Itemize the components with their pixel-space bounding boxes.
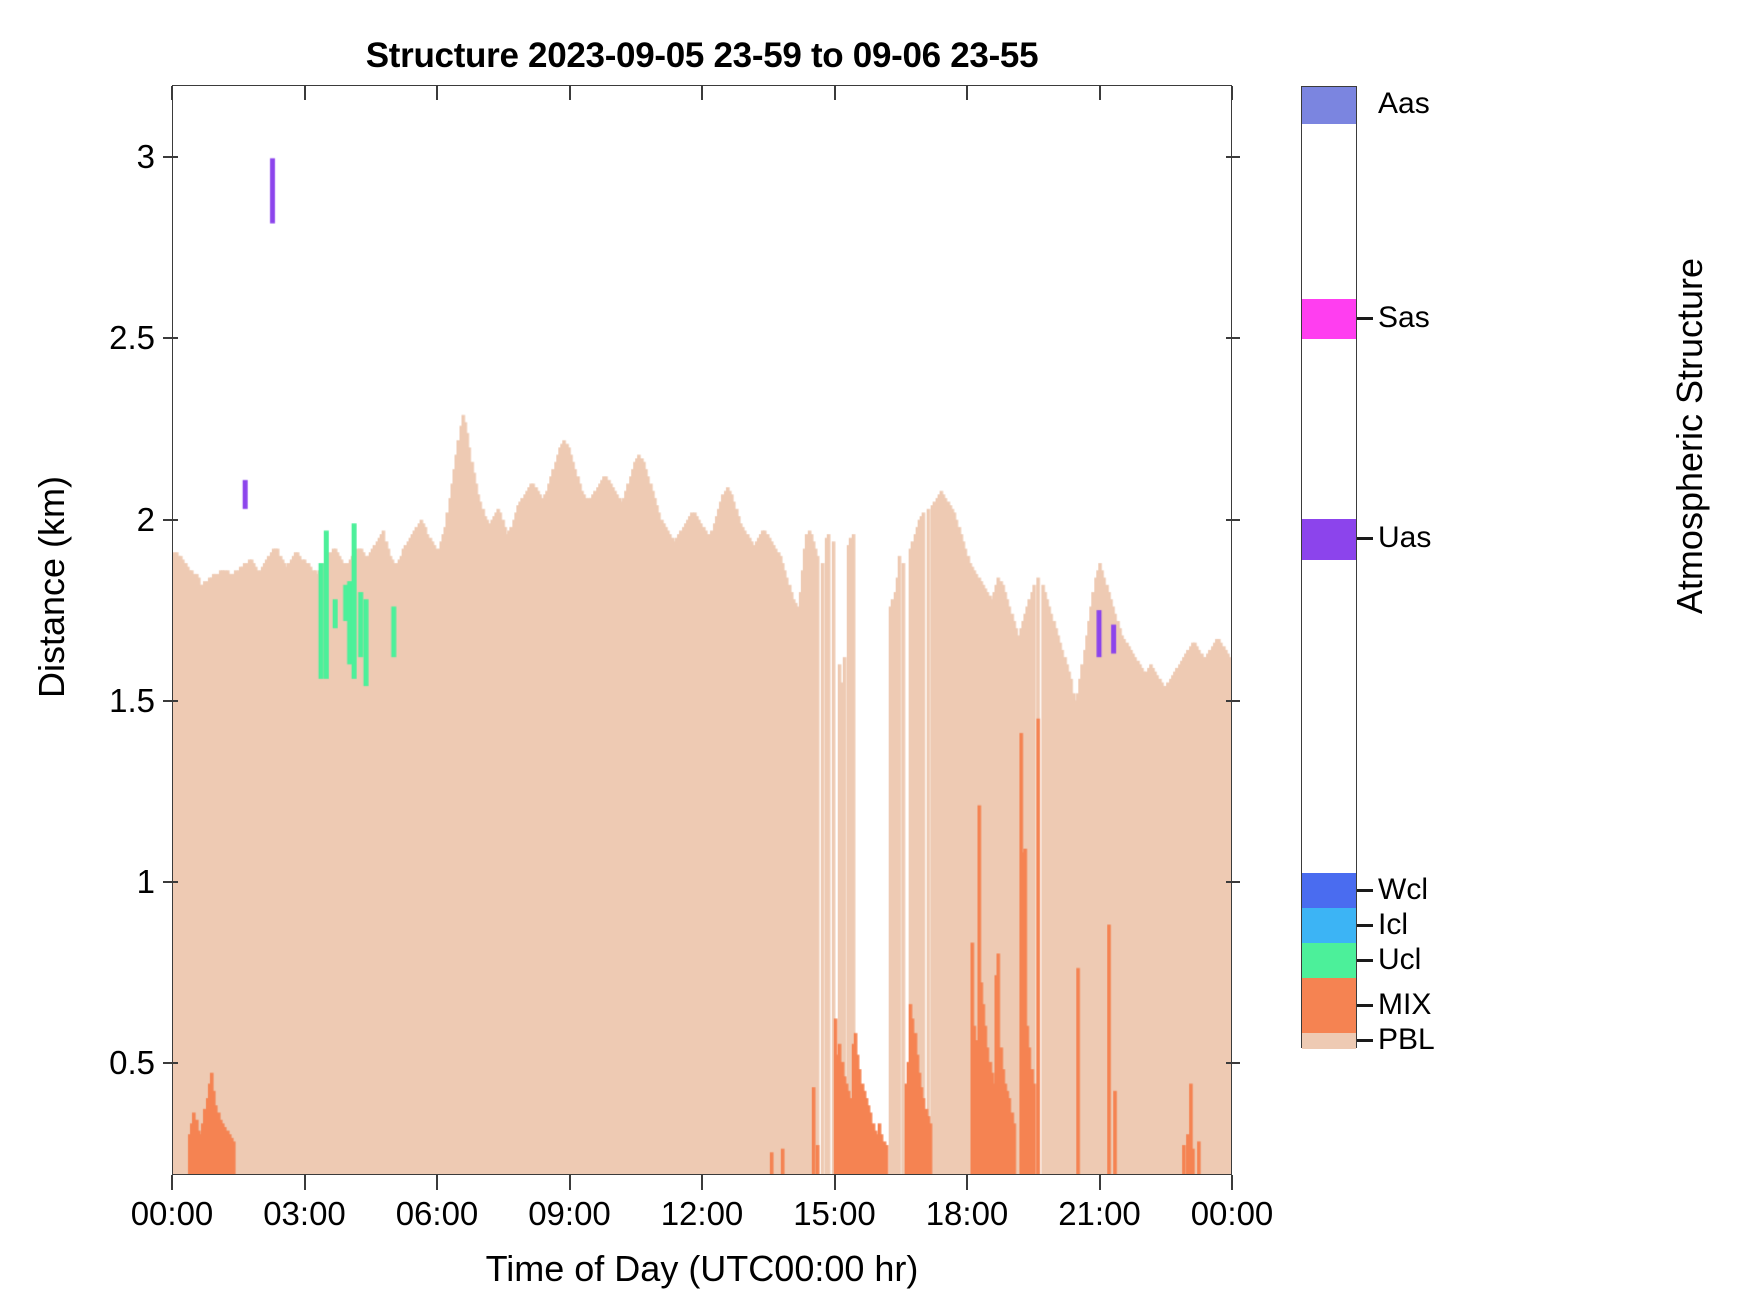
page-title: Structure 2023-09-05 23-59 to 09-06 23-5… — [172, 36, 1232, 76]
x-tick-mark — [1099, 86, 1101, 100]
y-tick-mark — [1226, 519, 1240, 521]
y-tick-mark — [163, 1062, 178, 1064]
colorbar-label-sas: Sas — [1378, 301, 1430, 335]
colorbar-tick — [1357, 959, 1373, 962]
colorbar-band-pbl — [1302, 1033, 1356, 1049]
x-tick-mark — [1099, 1175, 1101, 1190]
x-tick-mark — [701, 1175, 703, 1190]
colorbar-label-aas: Aas — [1378, 87, 1430, 121]
y-axis-label: Distance (km) — [31, 307, 73, 867]
x-tick-mark — [436, 1175, 438, 1190]
colorbar-band-uas — [1302, 519, 1356, 559]
y-tick-label: 0.5 — [35, 1044, 155, 1082]
colorbar-band-aas — [1302, 87, 1356, 124]
atmospheric-structure-plot — [173, 86, 1231, 1174]
x-tick-mark — [834, 86, 836, 100]
colorbar-label-icl: Icl — [1378, 908, 1408, 942]
colorbar-tick — [1357, 889, 1373, 892]
colorbar-label-ucl: Ucl — [1378, 943, 1421, 977]
y-tick-label: 1 — [35, 863, 155, 901]
y-tick-label: 3 — [35, 138, 155, 176]
y-tick-mark — [1226, 881, 1240, 883]
colorbar-title: Atmospheric Structure — [1669, 146, 1711, 726]
colorbar-band-icl — [1302, 908, 1356, 943]
x-tick-mark — [436, 86, 438, 100]
x-tick-mark — [304, 1175, 306, 1190]
x-axis-label: Time of Day (UTC00:00 hr) — [172, 1248, 1232, 1290]
plot-area — [172, 85, 1232, 1175]
x-tick-mark — [569, 1175, 571, 1190]
x-tick-mark — [966, 1175, 968, 1190]
x-tick-mark — [701, 86, 703, 100]
colorbar — [1301, 86, 1357, 1048]
colorbar-tick — [1357, 1039, 1373, 1042]
colorbar-label-pbl: PBL — [1378, 1023, 1435, 1057]
x-tick-mark — [966, 86, 968, 100]
colorbar-tick — [1357, 1004, 1373, 1007]
x-tick-mark — [1231, 86, 1233, 100]
y-tick-mark — [163, 337, 178, 339]
x-tick-mark — [171, 86, 173, 100]
structure-timeseries-figure: Structure 2023-09-05 23-59 to 09-06 23-5… — [0, 0, 1750, 1313]
y-tick-mark — [163, 700, 178, 702]
colorbar-label-wcl: Wcl — [1378, 873, 1428, 907]
y-tick-mark — [163, 881, 178, 883]
y-tick-mark — [1226, 700, 1240, 702]
colorbar-tick — [1357, 924, 1373, 927]
colorbar-label-uas: Uas — [1378, 521, 1431, 555]
y-tick-mark — [163, 519, 178, 521]
y-tick-mark — [163, 156, 178, 158]
x-tick-label: 00:00 — [1142, 1195, 1322, 1233]
x-tick-mark — [171, 1175, 173, 1190]
colorbar-band-sas — [1302, 299, 1356, 339]
colorbar-tick — [1357, 317, 1373, 320]
x-tick-mark — [1231, 1175, 1233, 1190]
colorbar-label-mix: MIX — [1378, 988, 1431, 1022]
x-tick-mark — [834, 1175, 836, 1190]
x-tick-mark — [569, 86, 571, 100]
y-tick-mark — [1226, 156, 1240, 158]
colorbar-band-mix — [1302, 978, 1356, 1033]
colorbar-band-ucl — [1302, 943, 1356, 978]
x-tick-mark — [304, 86, 306, 100]
y-tick-mark — [1226, 1062, 1240, 1064]
colorbar-band-wcl — [1302, 873, 1356, 908]
colorbar-tick — [1357, 537, 1373, 540]
y-tick-mark — [1226, 337, 1240, 339]
